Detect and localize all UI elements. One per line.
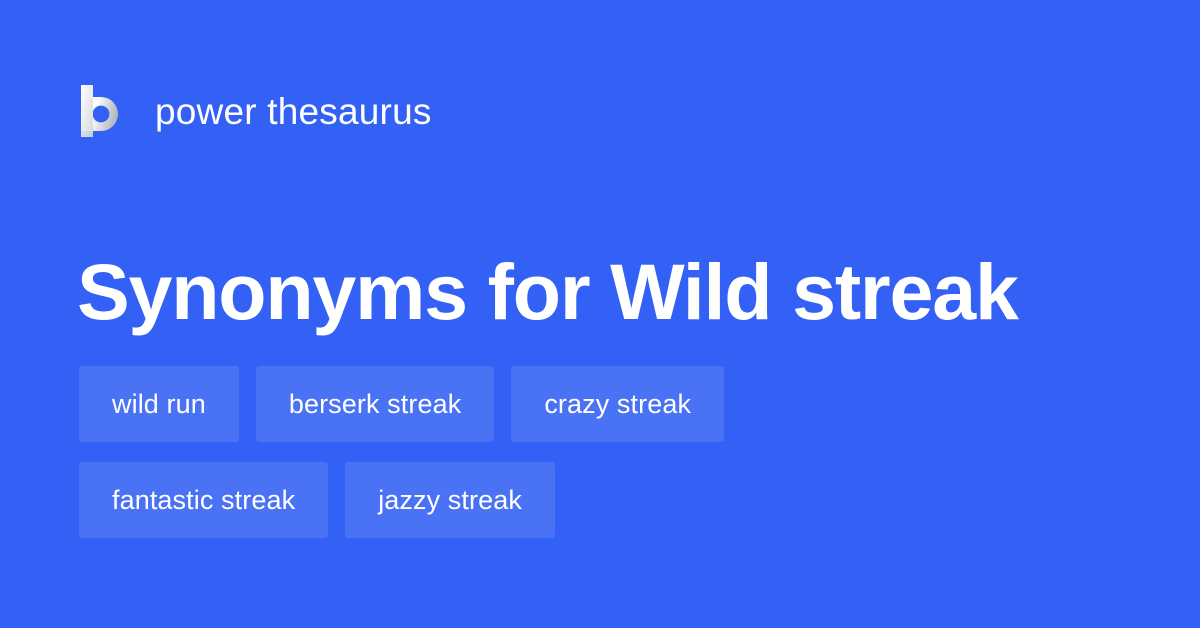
- synonym-tag[interactable]: fantastic streak: [79, 462, 328, 538]
- synonym-tag[interactable]: berserk streak: [256, 366, 494, 442]
- synonym-tag[interactable]: jazzy streak: [345, 462, 555, 538]
- brand-logo[interactable]: power thesaurus: [79, 80, 432, 142]
- page-title: Synonyms for Wild streak: [77, 252, 1137, 331]
- power-thesaurus-b-logo-icon: [79, 85, 123, 137]
- synonym-tag-list: wild run berserk streak crazy streak fan…: [79, 366, 1139, 538]
- synonym-tag-row: fantastic streak jazzy streak: [79, 462, 1139, 538]
- synonym-tag-row: wild run berserk streak crazy streak: [79, 366, 1139, 442]
- brand-name: power thesaurus: [155, 93, 432, 130]
- page-root: power thesaurus Synonyms for Wild streak…: [0, 0, 1200, 628]
- synonym-tag[interactable]: wild run: [79, 366, 239, 442]
- synonym-tag[interactable]: crazy streak: [511, 366, 724, 442]
